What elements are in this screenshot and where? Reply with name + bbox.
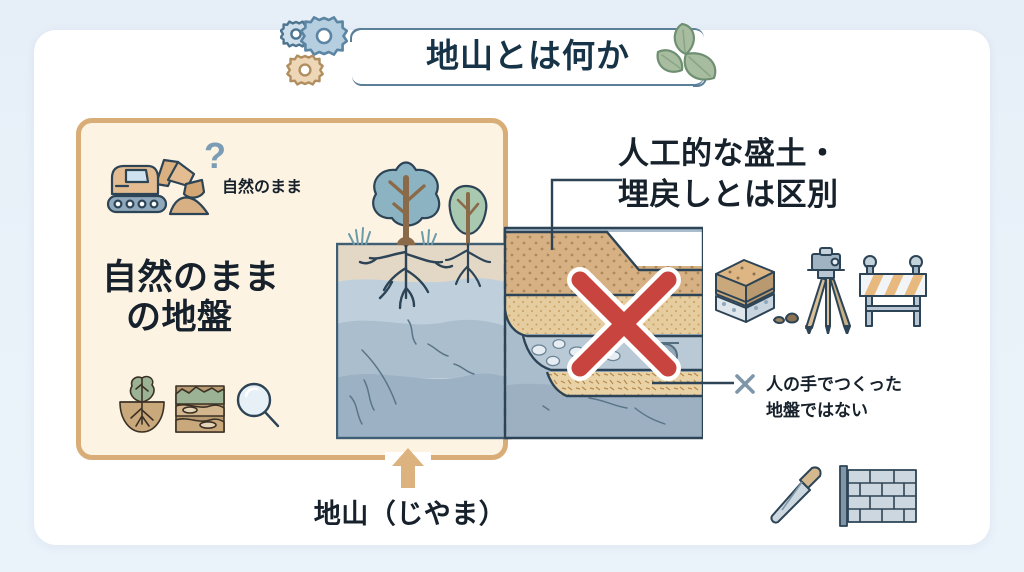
footer-caption: 地山（じやま） — [250, 492, 570, 531]
natural-state-label: 自然のまま — [222, 173, 302, 197]
infographic-canvas: 地山とは何か — [0, 0, 1024, 572]
brick-wall-icon — [840, 466, 916, 526]
leaf-cluster-icon — [652, 16, 726, 92]
note-x-icon — [734, 373, 756, 395]
leader-line-top — [530, 172, 622, 252]
magnifier-icon — [238, 384, 278, 426]
artificial-fill-heading-line1: 人工的な盛土・ — [618, 134, 839, 175]
red-x-mark — [562, 262, 686, 386]
masonry-icons-group — [770, 464, 918, 528]
soil-strata-icon — [176, 386, 224, 432]
tree-roots-soil-icon — [120, 377, 164, 432]
left-headline-line1: 自然のまま — [102, 258, 280, 297]
svg-text:?: ? — [204, 136, 226, 176]
surveying-tripod-icon — [806, 248, 850, 334]
gear-large-blue — [301, 17, 347, 54]
tool-icons-group — [712, 246, 928, 334]
left-headline-line2: の地盤 — [102, 298, 332, 338]
artificial-fill-heading-line2: 埋戻しとは区別 — [618, 175, 839, 216]
arrow-up-icon — [392, 448, 424, 488]
not-man-made-note-line2: 地盤ではない — [766, 398, 902, 424]
not-man-made-note: 人の手でつくった 地盤ではない — [766, 372, 902, 423]
not-man-made-note-line1: 人の手でつくった — [766, 372, 902, 398]
title-banner: 地山とは何か — [280, 12, 750, 96]
mini-icon-row — [118, 372, 298, 436]
leader-line-bottom — [652, 372, 734, 394]
natural-ground-cross-section — [336, 148, 512, 440]
gear-icons-group — [280, 14, 348, 92]
excavator-row: ? 自然のまま — [104, 140, 334, 226]
soil-sample-block-icon — [716, 260, 798, 323]
left-headline: 自然のまま の地盤 — [102, 258, 332, 339]
trowel-icon — [771, 467, 820, 522]
gear-medium-tan — [287, 56, 322, 85]
artificial-fill-heading: 人工的な盛土・ 埋戻しとは区別 — [618, 134, 839, 216]
construction-barrier-icon — [860, 256, 926, 326]
